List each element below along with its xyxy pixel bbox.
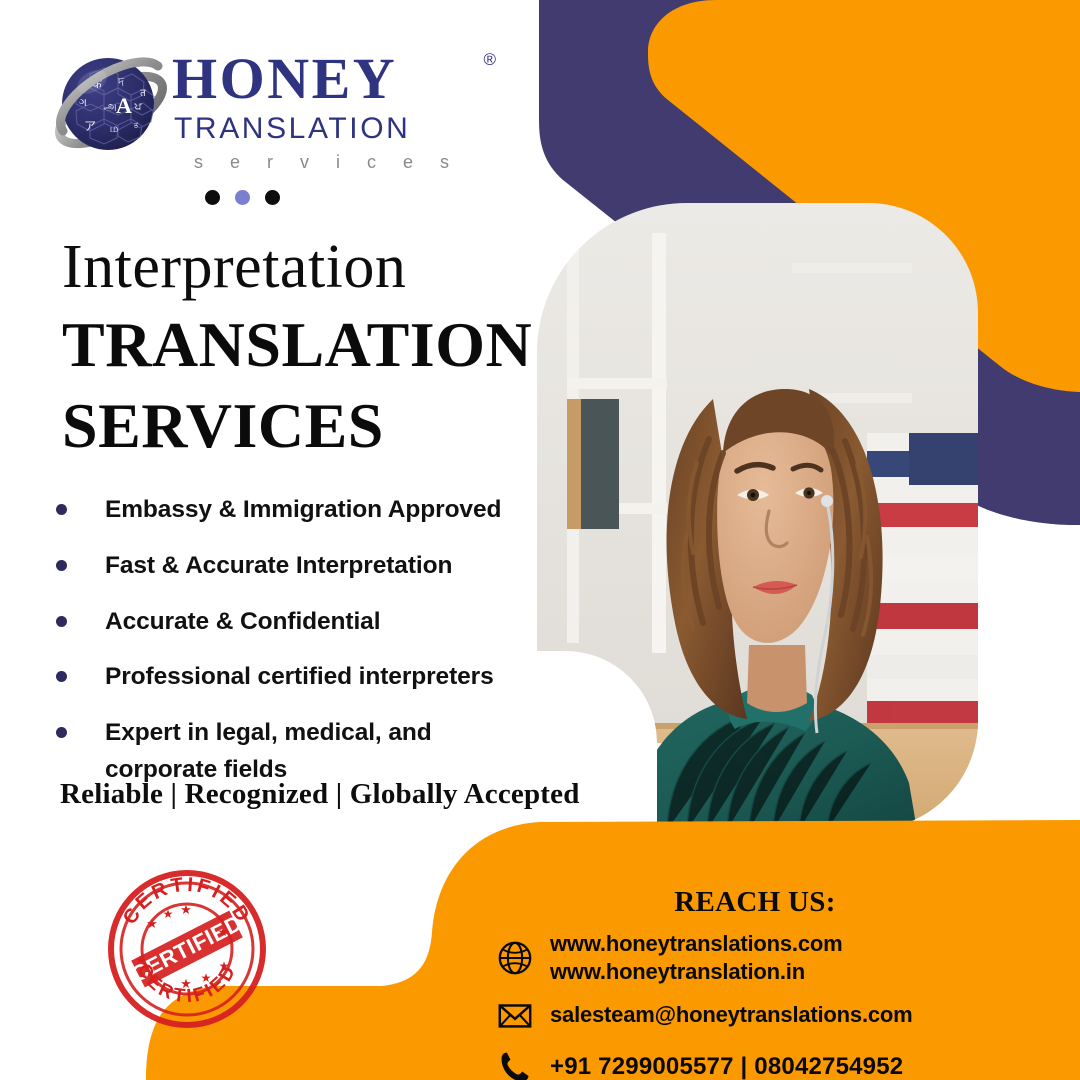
headline-bold-line-2: SERVICES — [62, 391, 542, 460]
hero-photo — [537, 203, 978, 830]
star-icon: ★ — [218, 925, 229, 939]
bullet-dot-icon — [56, 727, 67, 738]
contact-row-website[interactable]: www.honeytranslations.com www.honeytrans… — [492, 930, 1072, 986]
list-item: Accurate & Confidential — [56, 604, 556, 641]
bullet-label: Professional certified interpreters — [105, 659, 494, 696]
email-text: salesteam@honeytranslations.com — [550, 1001, 913, 1029]
reach-us-heading: REACH US: — [430, 886, 1080, 919]
svg-text:ગ: ગ — [79, 96, 87, 109]
bullet-dot-icon — [56, 616, 67, 627]
poster-canvas: क দ त ગ அ ਪ ア ம ಕ A HONEY® TRANSLATION s… — [0, 0, 1080, 1080]
website-line-1: www.honeytranslations.com — [550, 930, 842, 958]
feature-bullet-list: Embassy & Immigration Approved Fast & Ac… — [56, 492, 556, 808]
dot-3 — [265, 190, 280, 205]
svg-text:ア: ア — [84, 119, 96, 133]
star-icon: ★ — [219, 959, 230, 973]
globe-languages-icon: क দ त ગ அ ਪ ア ம ಕ A — [52, 48, 170, 166]
phone-icon — [492, 1044, 538, 1080]
logo-services-text: s e r v i c e s — [194, 152, 472, 174]
contact-rows: www.honeytranslations.com www.honeytrans… — [492, 930, 1072, 1080]
bullet-label: Embassy & Immigration Approved — [105, 492, 501, 529]
star-icon: ★ — [201, 971, 212, 985]
phone-text: +91 7299005577 | 08042754952 — [550, 1052, 903, 1080]
svg-text:ਪ: ਪ — [133, 100, 142, 113]
list-item: Professional certified interpreters — [56, 659, 556, 696]
logo-honey-text: HONEY — [172, 42, 397, 108]
logo-dots-row — [205, 190, 280, 205]
star-icon: ★ — [180, 976, 192, 991]
website-line-2: www.honeytranslation.in — [550, 958, 842, 986]
headline-script-line: Interpretation — [62, 236, 542, 298]
svg-text:ಕ: ಕ — [134, 120, 139, 131]
logo-translation-text: TRANSLATION — [174, 112, 472, 147]
star-icon: ★ — [146, 916, 158, 931]
dot-2 — [235, 190, 250, 205]
svg-text:A: A — [116, 93, 132, 118]
headline-bold-line-1: TRANSLATION — [62, 310, 542, 379]
certified-stamp: CERTIFIED CERTIFIED CERTIFIED ★ ★ ★ ★ ★ … — [106, 868, 268, 1030]
email-line-1: salesteam@honeytranslations.com — [550, 1001, 913, 1029]
brand-logo[interactable]: क দ त ગ அ ਪ ア ம ಕ A HONEY® TRANSLATION s… — [52, 42, 472, 182]
contact-row-phone[interactable]: +91 7299005577 | 08042754952 — [492, 1044, 1072, 1080]
svg-text:দ: দ — [117, 75, 125, 89]
list-item: Embassy & Immigration Approved — [56, 492, 556, 529]
logo-wordmark: HONEY® TRANSLATION s e r v i c e s — [172, 42, 472, 173]
star-icon: ★ — [135, 953, 146, 967]
globe-icon — [492, 935, 538, 981]
svg-text:त: त — [140, 88, 146, 99]
contact-panel: REACH US: www.honeytranslations.com www.… — [430, 872, 1080, 1080]
contact-row-email[interactable]: salesteam@honeytranslations.com — [492, 992, 1072, 1038]
tagline-text: Reliable | Recognized | Globally Accepte… — [60, 778, 580, 811]
registered-mark: ® — [483, 50, 496, 70]
dot-1 — [205, 190, 220, 205]
svg-text:ம: ம — [110, 122, 119, 135]
photo-clip-svg — [537, 203, 978, 830]
website-text: www.honeytranslations.com www.honeytrans… — [550, 930, 842, 986]
star-icon: ★ — [180, 902, 192, 917]
headline-block: Interpretation TRANSLATION SERVICES — [62, 236, 542, 460]
bullet-dot-icon — [56, 560, 67, 571]
bullet-dot-icon — [56, 504, 67, 515]
list-item: Fast & Accurate Interpretation — [56, 548, 556, 585]
phone-line-1: +91 7299005577 | 08042754952 — [550, 1052, 903, 1080]
bullet-label: Accurate & Confidential — [105, 604, 380, 641]
star-icon: ★ — [163, 907, 174, 921]
envelope-icon — [492, 992, 538, 1038]
svg-text:அ: அ — [103, 99, 116, 113]
bullet-dot-icon — [56, 671, 67, 682]
bullet-label: Fast & Accurate Interpretation — [105, 548, 452, 585]
